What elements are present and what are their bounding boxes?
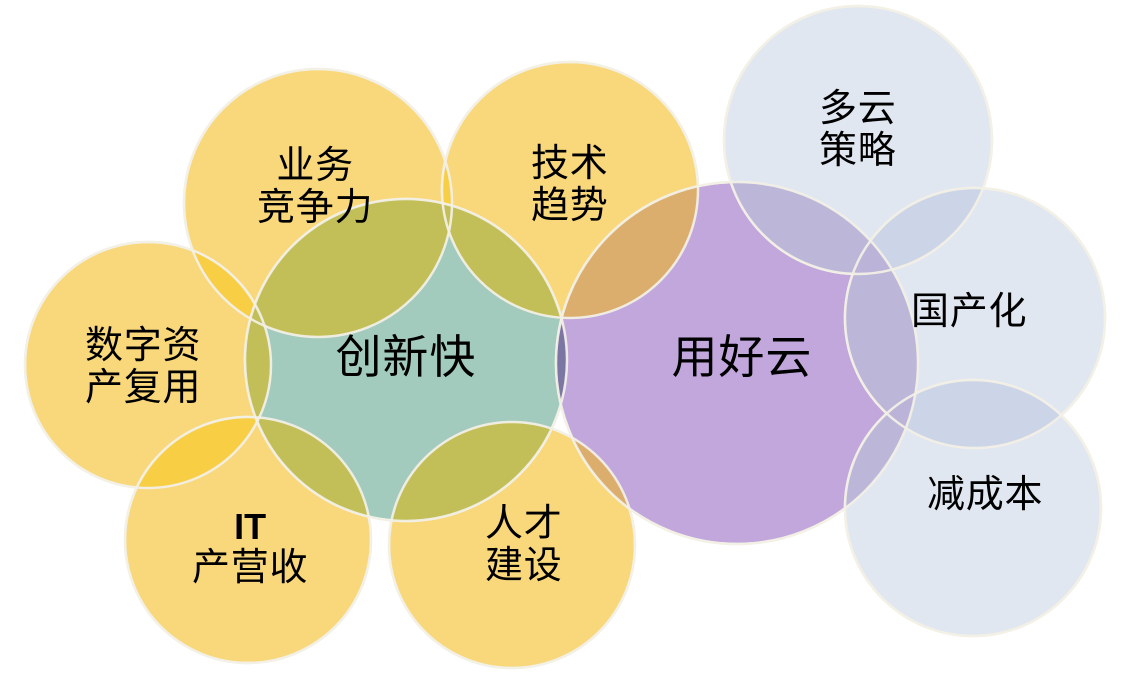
venn-diagram-canvas: 业务竞争力技术趋势数字资产复用IT产营收人才建设多云策略国产化减成本创新快用好云 xyxy=(0,0,1129,687)
venn-circles-svg xyxy=(0,0,1129,687)
